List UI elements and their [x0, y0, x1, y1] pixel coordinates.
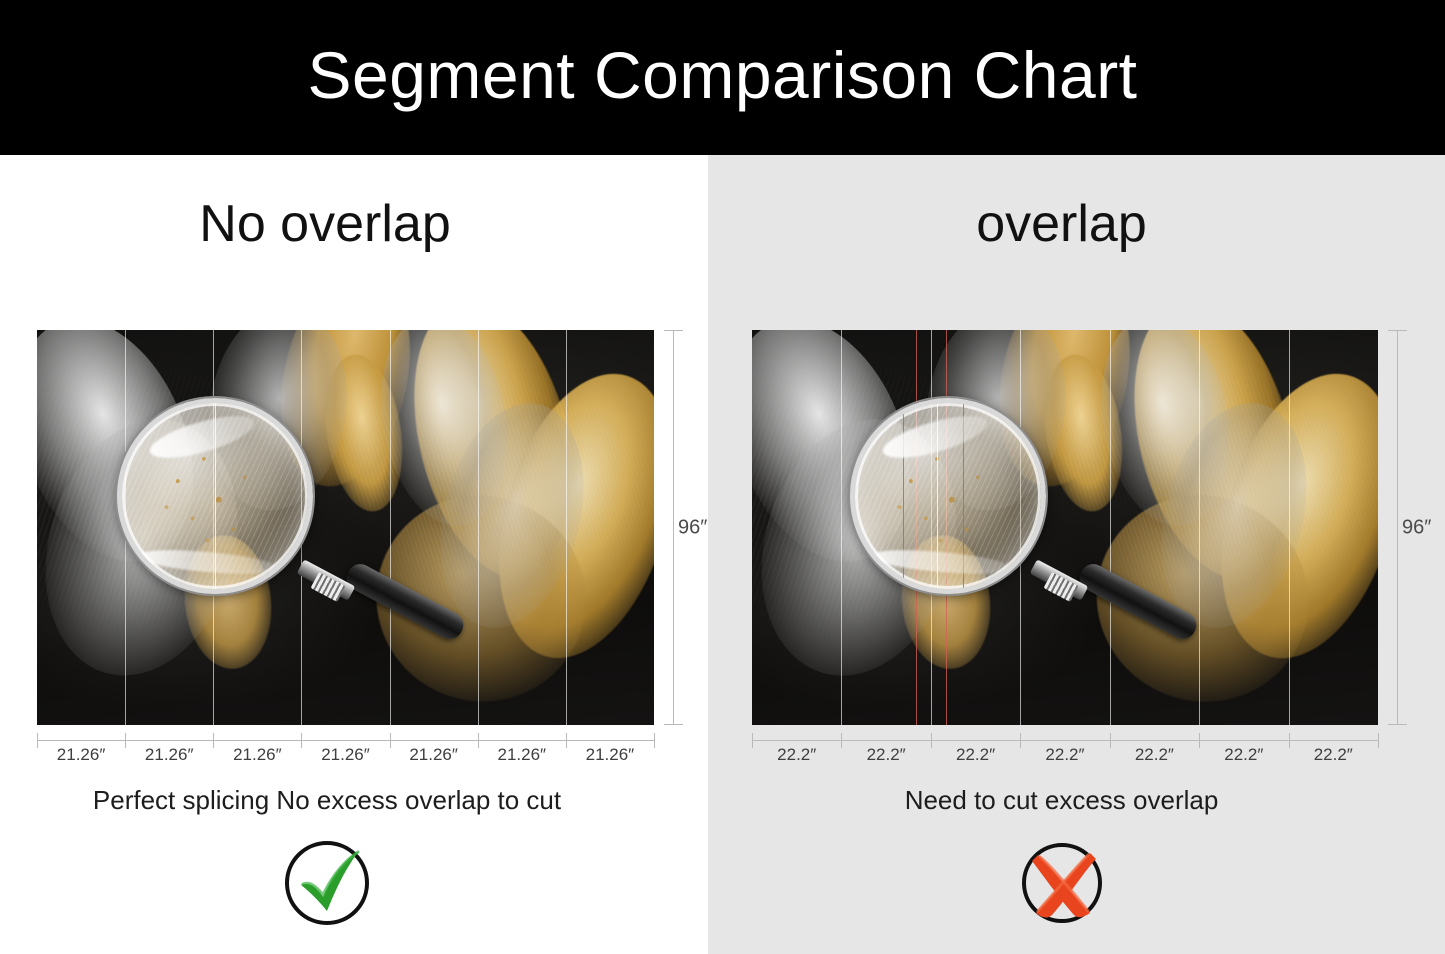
dimension-line [1397, 330, 1398, 725]
panel-seam-line [1110, 330, 1111, 725]
panel-seam-line [1289, 330, 1290, 725]
ruler-line [752, 740, 1378, 741]
panel-seam-line [301, 330, 302, 725]
segment-ruler-overlap: 22.2″ 22.2″ 22.2″ 22.2″ 22.2″ 22.2″ 22.2… [752, 733, 1378, 775]
panel-heading-overlap: overlap [708, 197, 1445, 252]
caption-overlap: Need to cut excess overlap [708, 785, 1445, 816]
panel-seam-line [125, 330, 126, 725]
red-cross-icon [1014, 835, 1110, 931]
ruler-tick [654, 733, 655, 748]
segment-width-label: 22.2″ [931, 745, 1020, 765]
segment-ruler-no-overlap: 21.26″ 21.26″ 21.26″ 21.26″ 21.26″ 21.26… [37, 733, 654, 775]
verdict-no-overlap [0, 835, 708, 931]
ruler-line [37, 740, 654, 741]
feather-wisp-texture [752, 330, 1378, 725]
panel-seam-line [931, 330, 932, 725]
panel-seam-line [390, 330, 391, 725]
verdict-overlap [708, 835, 1445, 931]
segment-width-label: 21.26″ [301, 745, 389, 765]
segment-width-label: 22.2″ [752, 745, 841, 765]
segment-width-label: 21.26″ [390, 745, 478, 765]
feather-wisp-texture [37, 330, 654, 725]
comparison-panels: No overlap [0, 155, 1445, 954]
segment-width-label: 22.2″ [841, 745, 930, 765]
dimension-cap [1388, 724, 1407, 725]
overlap-marker-line [916, 330, 917, 725]
panel-seam-line [566, 330, 567, 725]
panel-no-overlap: No overlap [0, 155, 708, 954]
panel-overlap: overlap [708, 155, 1445, 954]
caption-no-overlap: Perfect splicing No excess overlap to cu… [0, 785, 708, 816]
page-title: Segment Comparison Chart [307, 42, 1137, 114]
feather-mural-image [37, 330, 654, 725]
segment-width-label: 21.26″ [125, 745, 213, 765]
panel-seam-line [213, 330, 214, 725]
mural-overlap [752, 330, 1378, 725]
segment-width-label: 21.26″ [213, 745, 301, 765]
panel-heading-no-overlap: No overlap [0, 197, 708, 252]
segment-width-label: 22.2″ [1199, 745, 1288, 765]
height-label: 96″ [1402, 516, 1431, 539]
segment-width-label: 21.26″ [37, 745, 125, 765]
overlap-marker-line [946, 330, 947, 725]
ruler-tick [1378, 733, 1379, 748]
header-banner: Segment Comparison Chart [0, 0, 1445, 155]
feather-mural-image [752, 330, 1378, 725]
panel-seam-line [478, 330, 479, 725]
green-check-icon [279, 835, 375, 931]
segment-width-label: 21.26″ [566, 745, 654, 765]
segment-width-label: 22.2″ [1110, 745, 1199, 765]
segment-width-label: 22.2″ [1289, 745, 1378, 765]
height-label: 96″ [678, 516, 707, 539]
panel-seam-line [841, 330, 842, 725]
panel-seam-line [1020, 330, 1021, 725]
segment-comparison-chart: Segment Comparison Chart No overlap [0, 0, 1445, 954]
mural-no-overlap [37, 330, 654, 725]
dimension-line [673, 330, 674, 725]
panel-seam-line [1199, 330, 1200, 725]
dimension-cap [664, 724, 683, 725]
segment-width-label: 22.2″ [1020, 745, 1109, 765]
segment-width-label: 21.26″ [478, 745, 566, 765]
